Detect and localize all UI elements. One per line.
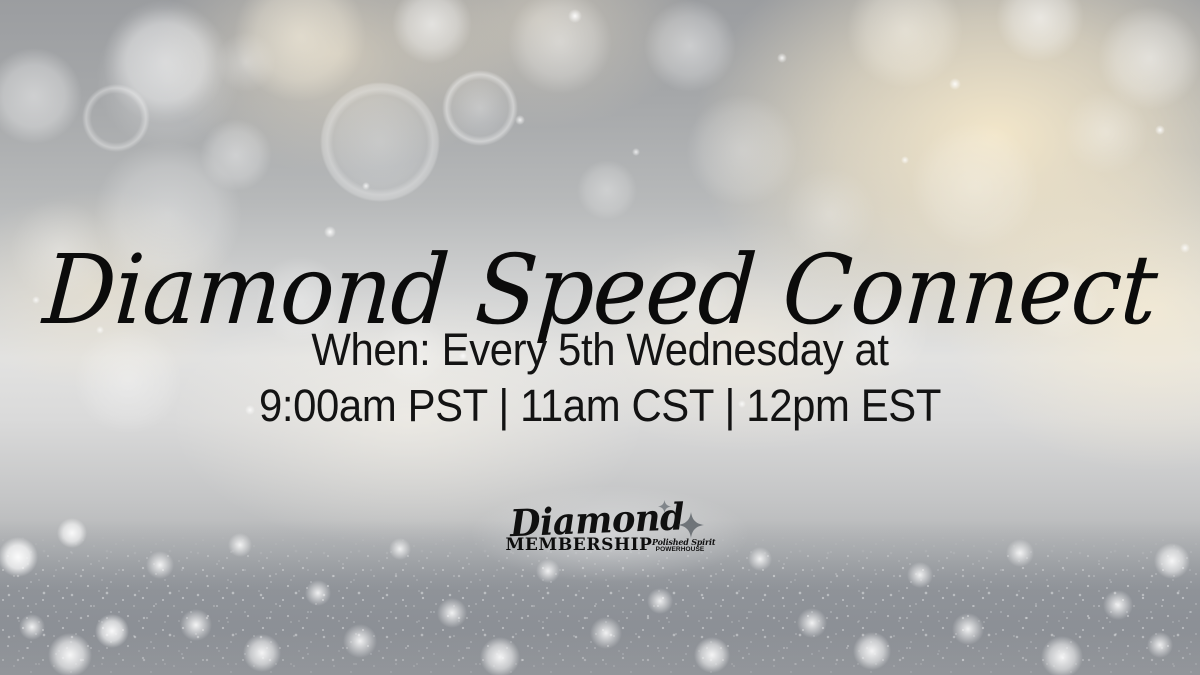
diamond-membership-logo: Diamond MEMBERSHIP Polished Spirit POWER… [0,498,1200,570]
banner-content: Diamond Speed Connect When: Every 5th We… [0,0,1200,675]
banner-subtitle: When: Every 5th Wednesday at 9:00am PST … [42,322,1158,434]
logo-membership-word: MEMBERSHIP [504,536,654,555]
sparkle-icon-small [658,500,671,518]
subtitle-line-times: 9:00am PST | 11am CST | 12pm EST [42,378,1158,434]
logo-tagline-word: POWERHOUSE [652,546,708,554]
promo-banner: Diamond Speed Connect When: Every 5th We… [0,0,1200,675]
subtitle-line-when: When: Every 5th Wednesday at [42,322,1158,378]
sparkle-icon-large [678,512,704,543]
logo-lockup: Diamond MEMBERSHIP Polished Spirit POWER… [492,498,708,570]
